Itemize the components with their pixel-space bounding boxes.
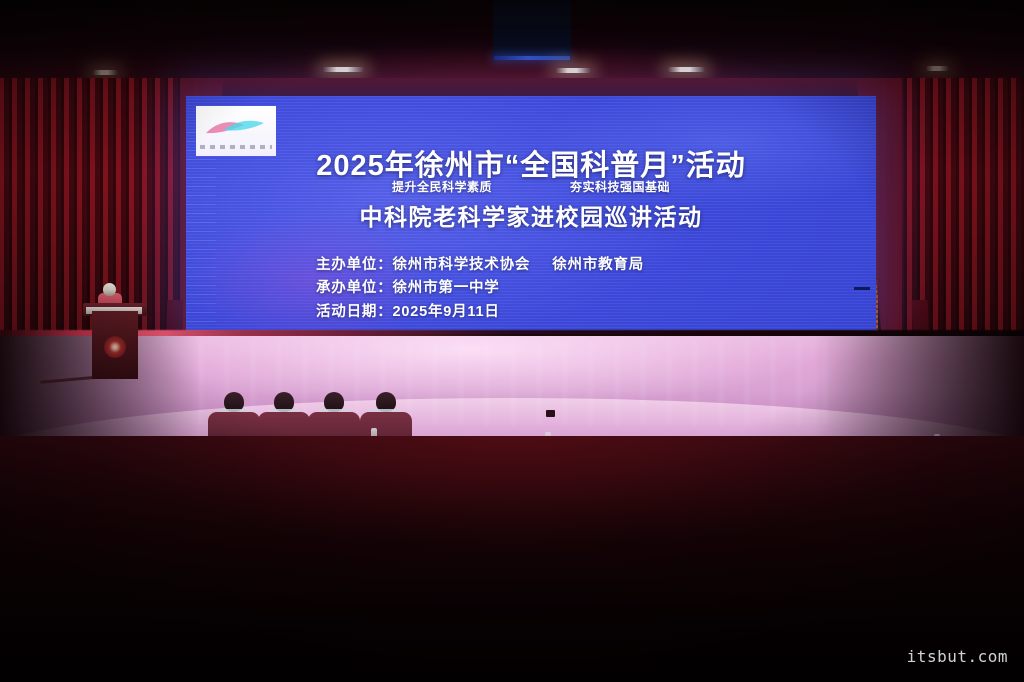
auditorium-seating-area: ★★★ 06 ★★★ 04 ★★★ 01 (0, 436, 1024, 682)
stage-light (555, 68, 591, 73)
stage-light (667, 67, 705, 72)
auditorium-photo: 2025年徐州市“全国科普月”活动 提升全民科学素质 夯实科技强国基础 中科院老… (0, 0, 1024, 682)
slide-content: 2025年徐州市“全国科普月”活动 提升全民科学素质 夯实科技强国基础 中科院老… (186, 96, 876, 334)
watermark: itsbut.com (907, 647, 1008, 666)
credit-value: 徐州市第一中学 (393, 280, 500, 296)
slide-credits: 主办单位：徐州市科学技术协会徐州市教育局 承办单位：徐州市第一中学 活动日期：2… (316, 254, 786, 324)
credit-value: 2025年9月11日 (393, 304, 500, 320)
ceiling-light-panel (493, 0, 571, 60)
slogan-left: 提升全民科学素质 (392, 178, 492, 195)
credit-line: 主办单位：徐州市科学技术协会徐州市教育局 (316, 254, 786, 277)
credit-line: 活动日期：2025年9月11日 (316, 301, 786, 324)
credit-line: 承办单位：徐州市第一中学 (316, 277, 786, 300)
slide-subtitle: 中科院老科学家进校园巡讲活动 (186, 198, 876, 232)
slide-slogans: 提升全民科学素质 夯实科技强国基础 (186, 178, 876, 195)
screen-edge-marker (854, 287, 870, 290)
presenter-head (103, 283, 116, 296)
credit-value: 徐州市科学技术协会 (393, 257, 531, 273)
credit-label: 承办单位： (316, 280, 393, 296)
slogan-right: 夯实科技强国基础 (570, 178, 670, 195)
stage-light (322, 67, 364, 72)
credit-value-secondary: 徐州市教育局 (552, 257, 644, 273)
credit-label: 主办单位： (316, 257, 393, 273)
stage-light (92, 70, 118, 75)
led-presentation-screen: 2025年徐州市“全国科普月”活动 提升全民科学素质 夯实科技强国基础 中科院老… (186, 96, 876, 334)
credit-label: 活动日期： (316, 304, 393, 320)
stage-light (925, 66, 949, 71)
school-emblem-icon (104, 336, 126, 358)
